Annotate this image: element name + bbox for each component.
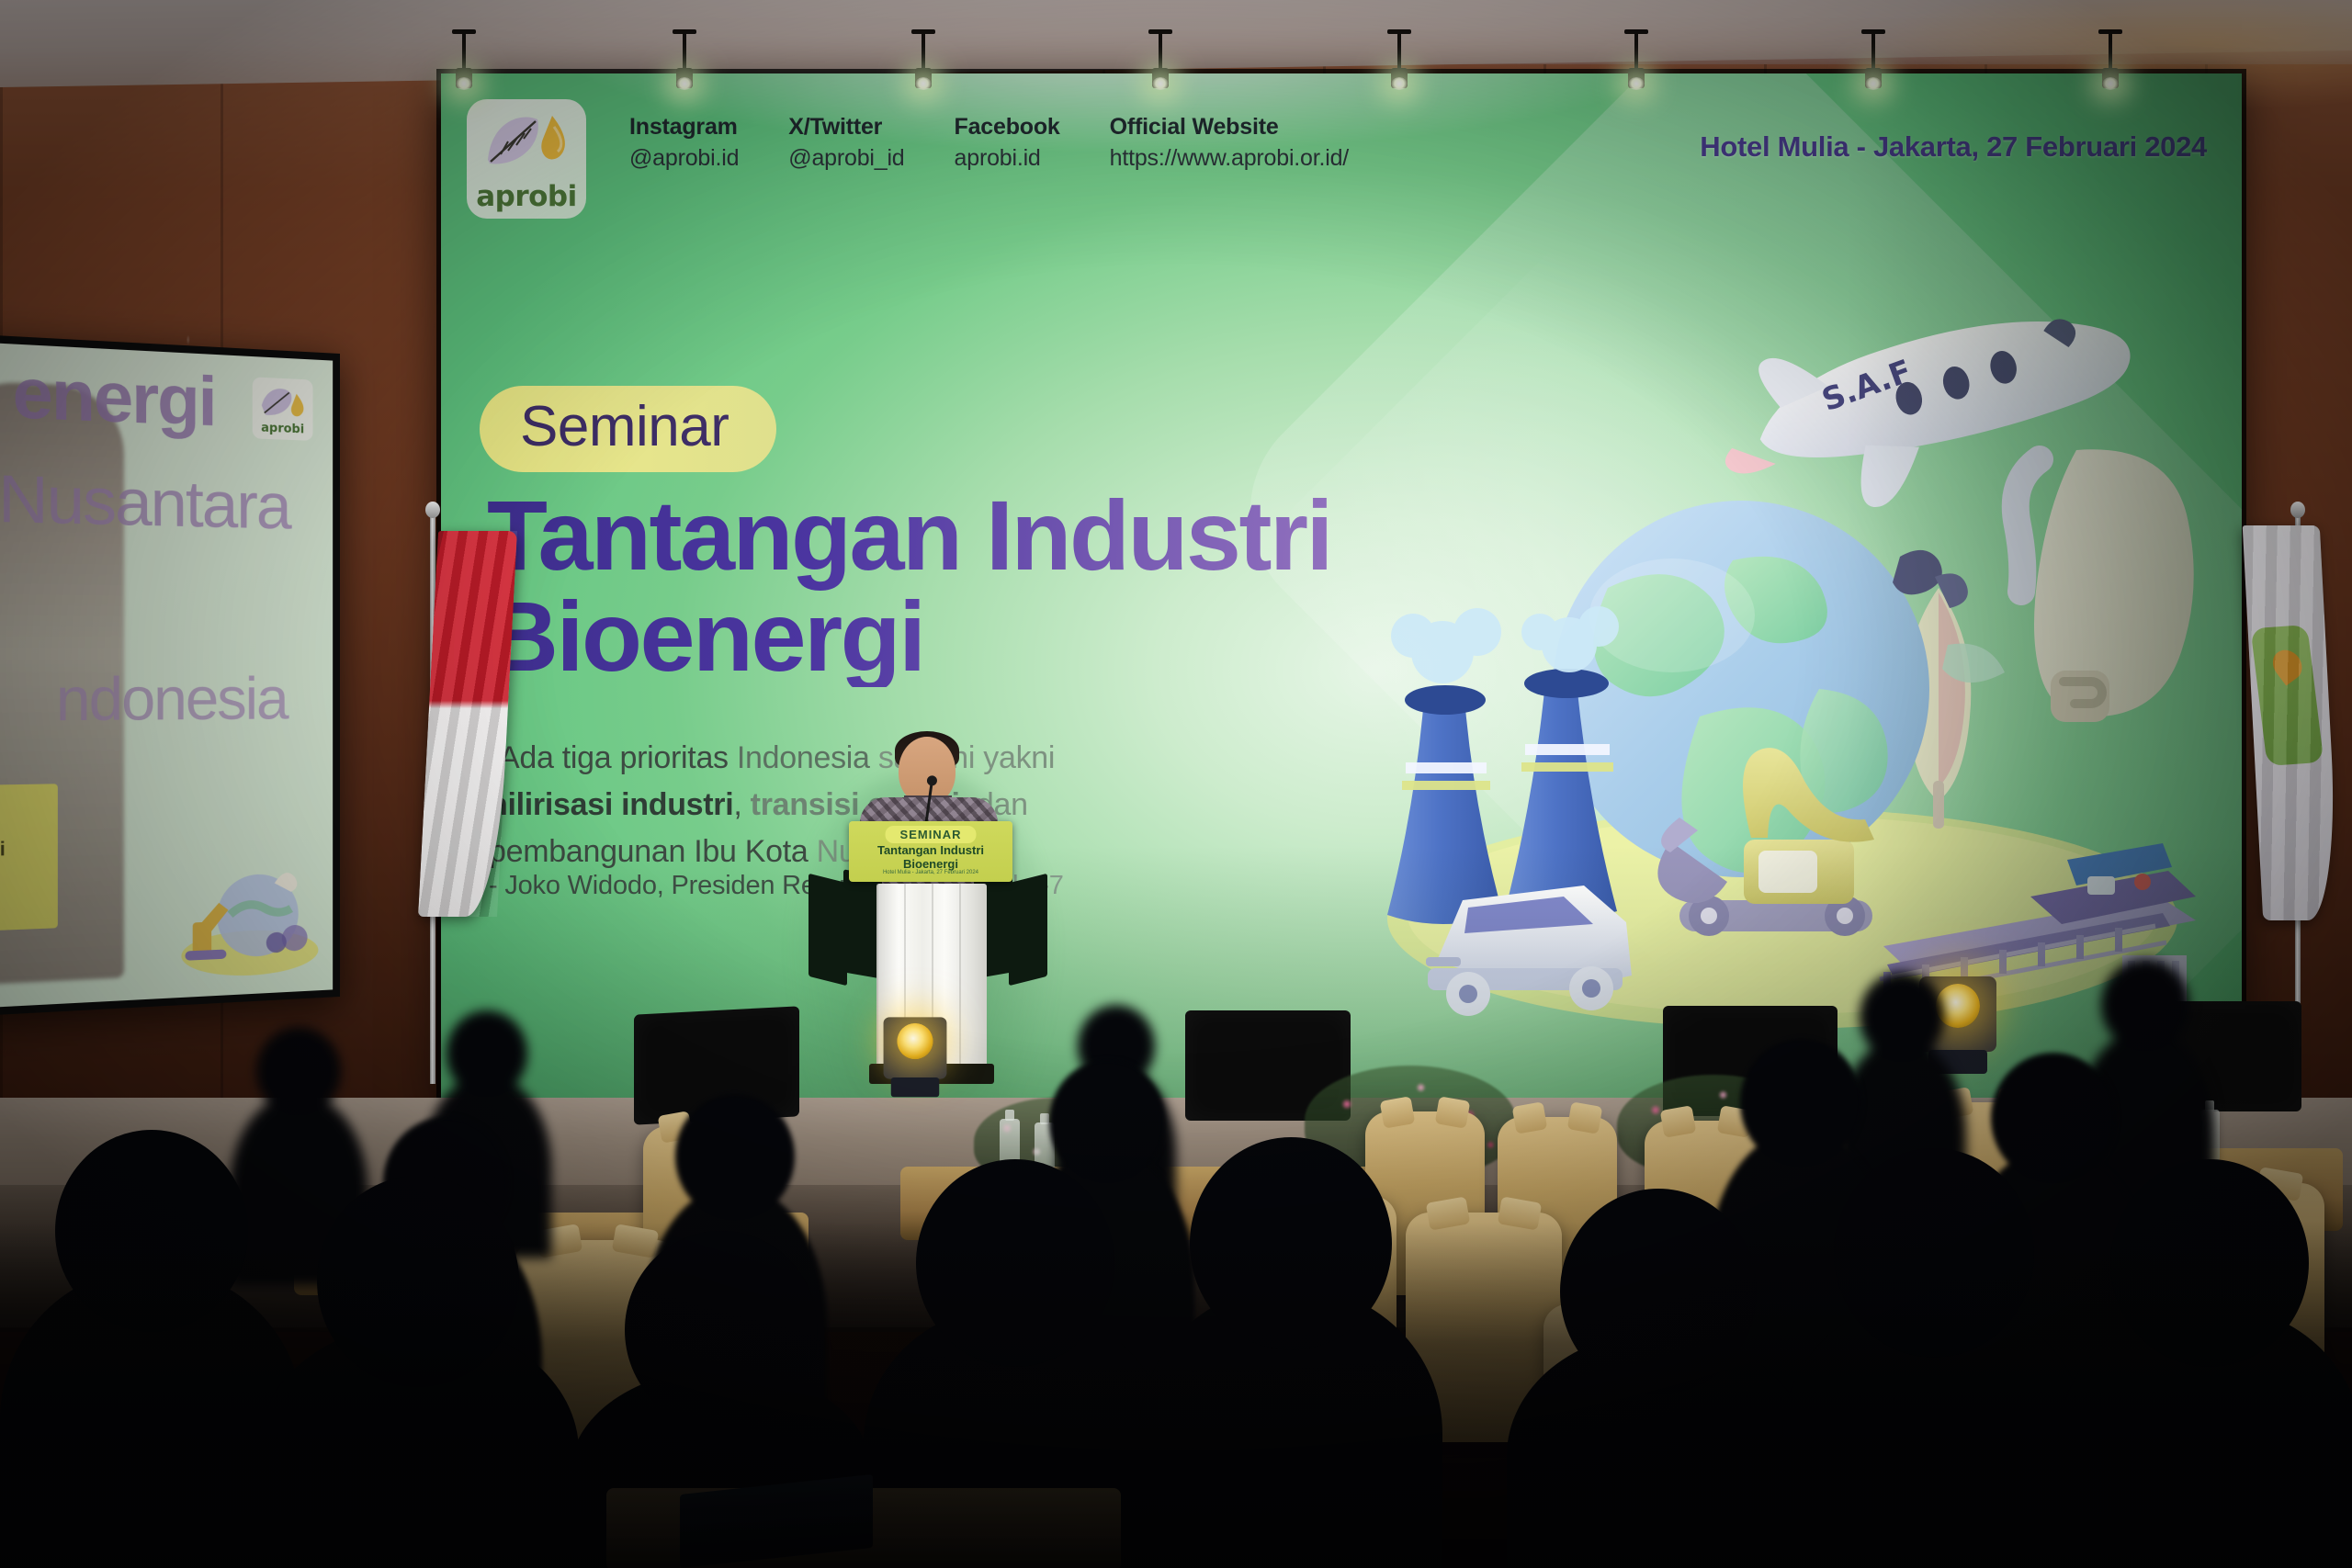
title-line-1: Tantangan Industri: [487, 479, 1331, 591]
audience-member: [1139, 1286, 1442, 1568]
seminar-eyebrow-label: Seminar: [520, 395, 729, 458]
audience-member: [1507, 1332, 1810, 1568]
spotlight-fixture: [1624, 17, 1648, 86]
left-screen-line3: ndonesia: [56, 663, 288, 734]
audience-area: [0, 937, 2352, 1568]
left-screen-line1: si energi: [0, 348, 216, 442]
spotlight-fixture: [2098, 17, 2122, 86]
quote-l2-a: hilirisasi industri: [489, 787, 733, 822]
left-projection-screen: si energi Nusantara ndonesia aprobi stri: [0, 333, 340, 1016]
social-handle: @aprobi.id: [629, 143, 739, 175]
spotlight-fixture: [1861, 17, 1885, 86]
social-facebook[interactable]: Facebook aprobi.id: [955, 112, 1060, 175]
projected-card-text: stri: [0, 839, 6, 862]
spotlight-fixture: [1148, 17, 1172, 86]
flag-finial: [2290, 502, 2305, 518]
spotlight-fixture: [673, 17, 696, 86]
aprobi-wordmark: aprobi: [476, 183, 577, 211]
projection-surface: si energi Nusantara ndonesia aprobi stri: [0, 342, 333, 1008]
social-handle: @aprobi_id: [788, 143, 904, 175]
podium-sign-subtitle: Hotel Mulia - Jakarta, 27 Februari 2024: [849, 870, 1012, 875]
spotlight-fixture: [1387, 17, 1411, 86]
projected-podium-card: stri: [0, 784, 58, 931]
podium-sign-eyebrow: SEMINAR: [886, 826, 977, 843]
spotlight-fixture: [911, 17, 935, 86]
seminar-eyebrow-pill: Seminar: [480, 386, 776, 472]
social-handle: https://www.aprobi.or.id/: [1110, 143, 1349, 175]
podium-sign-title-l2: Bioenergi: [903, 857, 958, 871]
quote-l1-a: “Ada tiga prioritas: [489, 740, 737, 775]
social-website[interactable]: Official Website https://www.aprobi.or.i…: [1110, 112, 1349, 175]
audience-member: [257, 1323, 579, 1568]
social-x-twitter[interactable]: X/Twitter @aprobi_id: [788, 112, 904, 175]
aprobi-logo-icon: aprobi: [253, 377, 313, 440]
podium-sign-title-l1: Tantangan Industri: [877, 843, 984, 857]
seminar-photo-scene: si energi Nusantara ndonesia aprobi stri: [0, 0, 2352, 1568]
svg-text:aprobi: aprobi: [261, 422, 304, 437]
social-handle: aprobi.id: [955, 143, 1060, 175]
quote-l2-sep: ,: [733, 787, 750, 822]
quote-l3-a: pembangunan Ibu Kota: [489, 834, 817, 869]
flag-finial: [425, 502, 440, 518]
social-links: Instagram @aprobi.id X/Twitter @aprobi_i…: [629, 112, 1349, 175]
audience-member: [2058, 1304, 2352, 1568]
left-screen-line2: Nusantara: [0, 459, 290, 543]
aprobi-flag-drop: [2267, 644, 2308, 685]
social-instagram[interactable]: Instagram @aprobi.id: [629, 112, 739, 175]
audience-member: [1782, 1295, 2086, 1568]
podium-sign-title: Tantangan Industri Bioenergi: [849, 844, 1012, 872]
aprobi-flag-mark: [2250, 625, 2324, 766]
backdrop-spotlight-bar: [441, 17, 2242, 118]
speaker-head: [899, 737, 955, 805]
venue-date-label: Hotel Mulia - Jakarta, 27 Februari 2024: [1700, 130, 2207, 164]
podium-sign: SEMINAR Tantangan Industri Bioenergi Hot…: [849, 821, 1012, 882]
spotlight-fixture: [452, 17, 476, 86]
